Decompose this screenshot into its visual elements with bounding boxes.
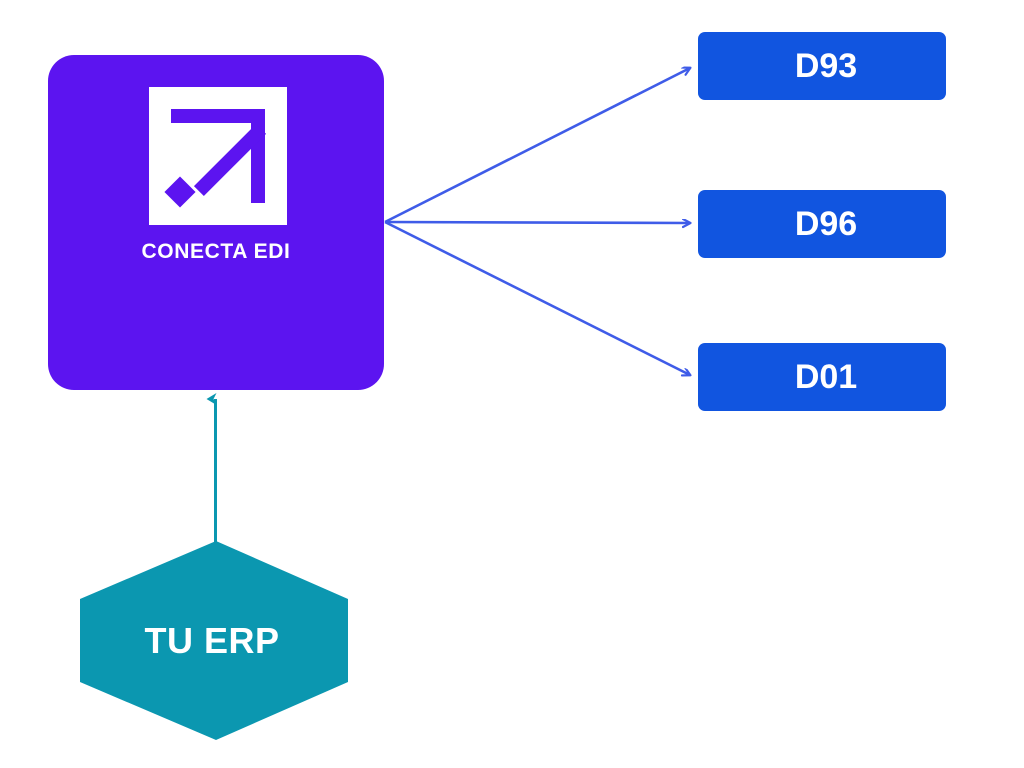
node-destination-d93[interactable]: D93 bbox=[698, 32, 946, 100]
node-destination-d96[interactable]: D96 bbox=[698, 190, 946, 258]
connector-hub-to-d01 bbox=[385, 222, 690, 375]
tu-erp-label: TU ERP bbox=[80, 541, 348, 740]
node-destination-d01[interactable]: D01 bbox=[698, 343, 946, 411]
node-conecta-edi[interactable]: CONECTA EDI bbox=[48, 55, 384, 390]
connector-hub-to-d93 bbox=[385, 68, 690, 222]
diagram-canvas: CONECTA EDI D93 D96 D01 TU ERP bbox=[0, 0, 1024, 768]
arrow-up-right-in-square-icon bbox=[149, 87, 287, 225]
connector-hub-to-d96 bbox=[385, 222, 690, 223]
conecta-edi-logo bbox=[149, 87, 287, 225]
conecta-edi-label: CONECTA EDI bbox=[48, 240, 384, 264]
